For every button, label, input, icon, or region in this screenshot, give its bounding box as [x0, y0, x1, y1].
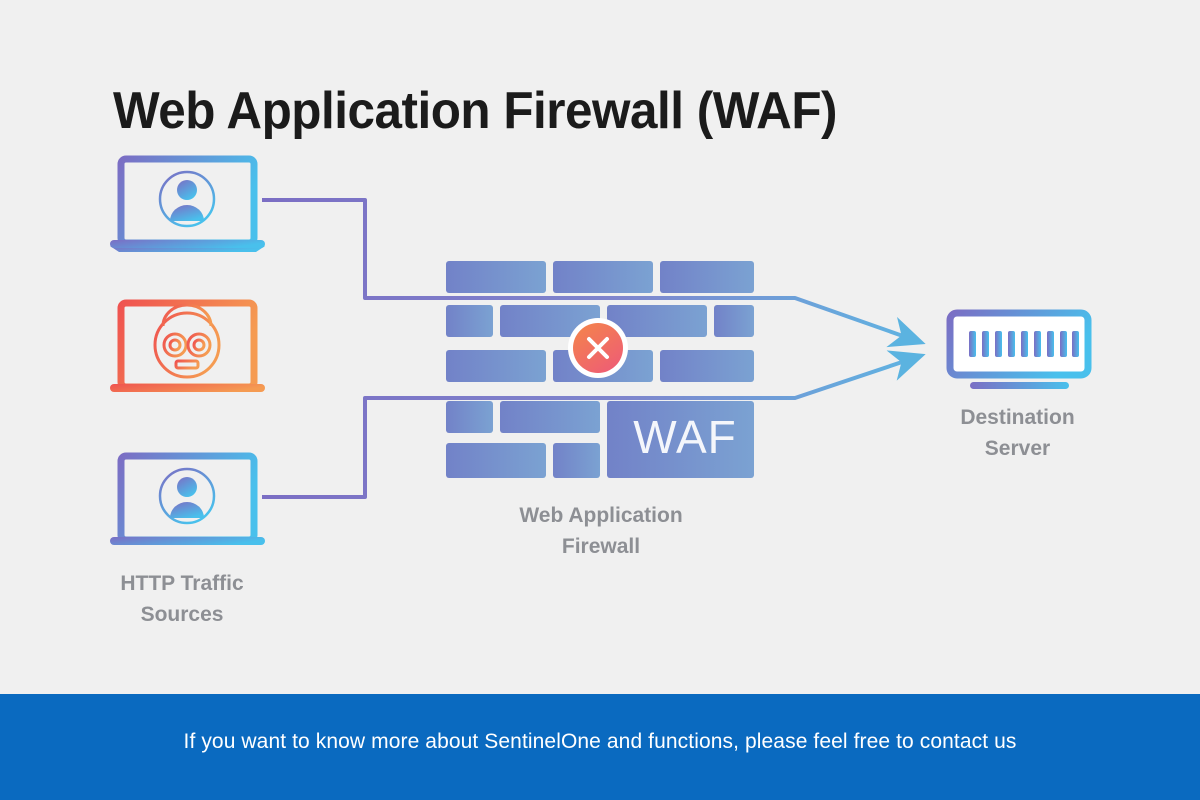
source-laptop-top[interactable] — [110, 159, 265, 252]
source-laptop-bottom[interactable] — [110, 456, 265, 545]
bot-face-icon — [155, 305, 219, 377]
destination-server-label: Destination Server — [905, 402, 1130, 464]
http-traffic-sources-label: HTTP Traffic Sources — [41, 568, 323, 630]
server-bars — [969, 331, 1079, 357]
page-title: Web Application Firewall (WAF) — [113, 81, 837, 141]
user-avatar-icon — [160, 469, 214, 523]
source-laptop-bot[interactable] — [110, 303, 265, 392]
footer-message: If you want to know more about SentinelO… — [0, 730, 1200, 754]
web-application-firewall-label: Web Application Firewall — [455, 500, 747, 562]
destination-server-icon[interactable] — [950, 313, 1088, 389]
blocked-badge[interactable] — [568, 318, 628, 378]
user-avatar-icon — [160, 172, 214, 226]
waf-brick-label: WAF — [615, 410, 755, 464]
